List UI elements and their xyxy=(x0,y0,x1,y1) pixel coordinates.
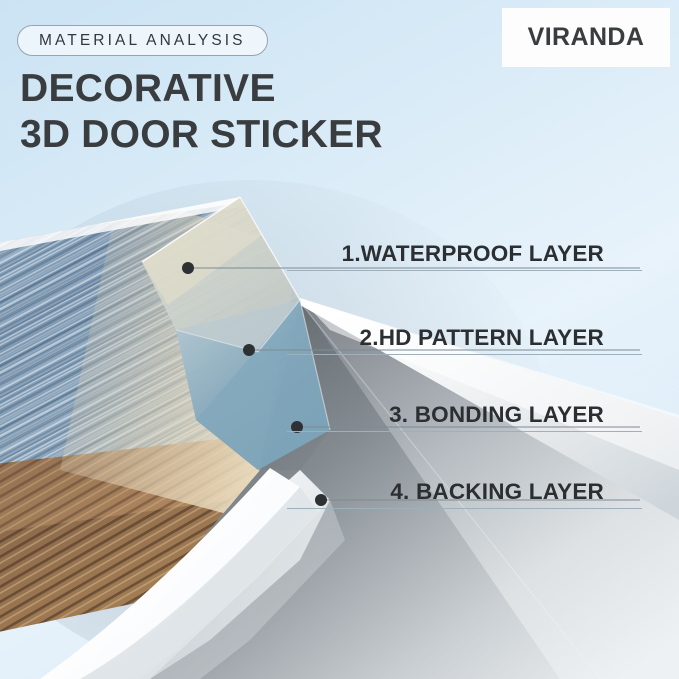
brand-logo: VIRANDA xyxy=(503,9,669,66)
material-analysis-badge-label: MATERIAL ANALYSIS xyxy=(39,32,246,50)
callout-label-waterproof-layer: 1.WATERPROOF LAYER xyxy=(287,241,642,271)
callout-dot-2 xyxy=(243,344,255,356)
brand-logo-text: VIRANDA xyxy=(528,23,645,52)
callout-label-hd-pattern-layer: 2.HD PATTERN LAYER xyxy=(287,325,642,355)
callout-label-bonding-layer: 3. BONDING LAYER xyxy=(287,402,642,432)
callout-dot-1 xyxy=(182,262,194,274)
callout-label-backing-layer: 4. BACKING LAYER xyxy=(287,479,642,509)
page-title: DECORATIVE 3D DOOR STICKER xyxy=(20,66,383,158)
poster-canvas: 1.WATERPROOF LAYER 2.HD PATTERN LAYER 3.… xyxy=(0,0,679,679)
page-title-line-2: 3D DOOR STICKER xyxy=(20,112,383,158)
material-analysis-badge: MATERIAL ANALYSIS xyxy=(17,25,268,56)
page-title-line-1: DECORATIVE xyxy=(20,66,383,112)
